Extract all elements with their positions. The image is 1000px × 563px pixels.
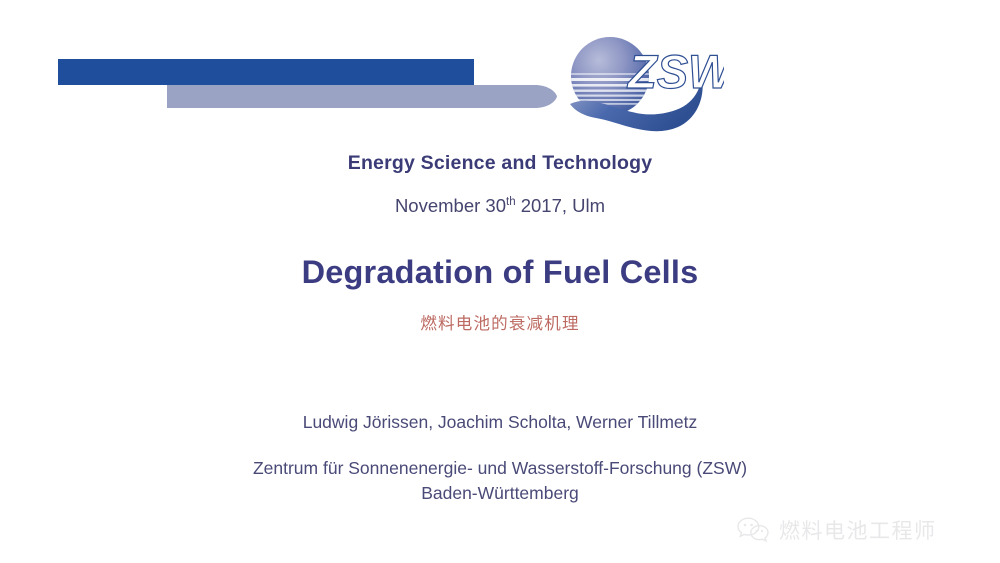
wechat-icon bbox=[736, 516, 770, 544]
zsw-logo: ZSW bbox=[566, 26, 724, 134]
logo-wordmark: ZSW bbox=[626, 45, 724, 98]
presentation-slide: ZSW Energy Science and Technology Novemb… bbox=[0, 0, 1000, 563]
event-date-suffix: 2017, Ulm bbox=[516, 195, 605, 216]
header-bar-dark bbox=[58, 59, 474, 85]
slide-subtitle-chinese: 燃料电池的衰减机理 bbox=[0, 316, 1000, 333]
affiliation-line-2: Baden-Württemberg bbox=[0, 481, 1000, 506]
slide-title: Degradation of Fuel Cells bbox=[0, 256, 1000, 289]
affiliation: Zentrum für Sonnenenergie- und Wassersto… bbox=[0, 456, 1000, 507]
slide-content: Energy Science and Technology November 3… bbox=[0, 140, 1000, 506]
event-name: Energy Science and Technology bbox=[0, 154, 1000, 174]
event-date: November 30th 2017, Ulm bbox=[0, 197, 1000, 216]
author-list: Ludwig Jörissen, Joachim Scholta, Werner… bbox=[0, 414, 1000, 432]
header-decoration-band: ZSW bbox=[0, 0, 1000, 140]
watermark-label: 燃料电池工程师 bbox=[779, 515, 937, 545]
affiliation-line-1: Zentrum für Sonnenenergie- und Wassersto… bbox=[0, 456, 1000, 481]
header-bar-light bbox=[167, 85, 557, 108]
event-date-ordinal-suffix: th bbox=[506, 195, 516, 207]
event-date-prefix: November 30 bbox=[395, 195, 506, 216]
watermark: 燃料电池工程师 bbox=[736, 509, 990, 551]
